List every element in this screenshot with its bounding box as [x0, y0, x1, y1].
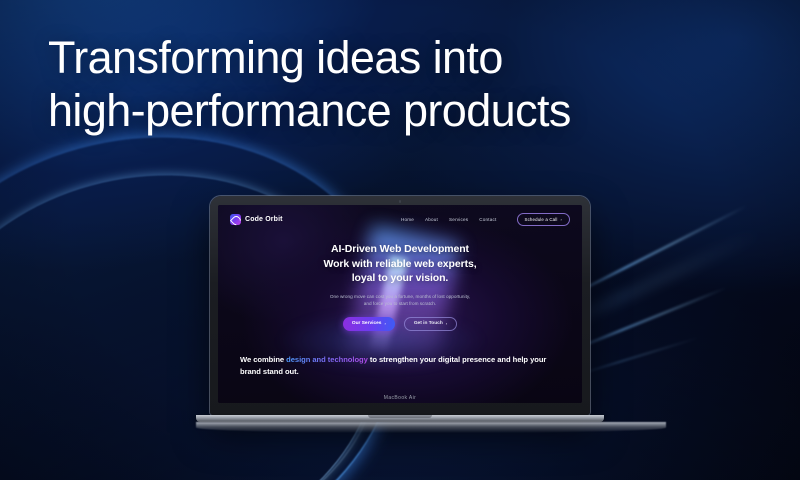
- site-hero-buttons: Our Services › Get in Touch ›: [244, 317, 556, 331]
- nav-link-contact[interactable]: Contact: [479, 217, 496, 222]
- get-in-touch-label: Get in Touch: [414, 321, 443, 326]
- site-nav-links: Home About Services Contact Schedule a C…: [401, 213, 570, 226]
- laptop-screen: Code Orbit Home About Services Contact S…: [218, 205, 582, 403]
- our-services-label: Our Services: [352, 321, 382, 326]
- nav-link-about[interactable]: About: [425, 217, 438, 222]
- laptop-base-notch: [368, 415, 432, 418]
- site-hero-paragraph: One wrong move can cost you a fortune, m…: [244, 293, 556, 308]
- laptop-lid: Code Orbit Home About Services Contact S…: [210, 196, 590, 415]
- orbit-logo-icon: [230, 214, 241, 225]
- website-preview: Code Orbit Home About Services Contact S…: [218, 205, 582, 403]
- site-hero-heading: AI-Driven Web Development Work with reli…: [244, 242, 556, 286]
- device-model-label: MacBook Air: [218, 395, 582, 401]
- schedule-call-label: Schedule a Call: [525, 217, 558, 222]
- schedule-call-button[interactable]: Schedule a Call ›: [517, 213, 571, 226]
- nav-link-home[interactable]: Home: [401, 217, 414, 222]
- brand-name: Code Orbit: [245, 216, 283, 223]
- laptop-mockup: Code Orbit Home About Services Contact S…: [196, 196, 604, 433]
- chevron-right-icon: ›: [384, 321, 385, 326]
- statement-lead: We combine: [240, 355, 286, 364]
- chevron-right-icon: ›: [561, 217, 562, 222]
- site-hero: AI-Driven Web Development Work with reli…: [218, 242, 582, 331]
- statement-highlight: design and technology: [286, 355, 368, 364]
- get-in-touch-button[interactable]: Get in Touch ›: [404, 317, 457, 331]
- webcam-dot: [399, 200, 402, 203]
- site-brand[interactable]: Code Orbit: [230, 214, 283, 225]
- laptop-base-shadow: [196, 422, 666, 433]
- nav-link-services[interactable]: Services: [449, 217, 468, 222]
- our-services-button[interactable]: Our Services ›: [343, 317, 395, 331]
- site-navbar: Code Orbit Home About Services Contact S…: [218, 205, 582, 226]
- chevron-right-icon: ›: [446, 321, 447, 326]
- hero-stage: Transforming ideas into high-performance…: [0, 0, 800, 480]
- site-statement: We combine design and technology to stre…: [240, 354, 560, 377]
- page-headline: Transforming ideas into high-performance…: [48, 32, 728, 137]
- laptop-base: [196, 415, 604, 422]
